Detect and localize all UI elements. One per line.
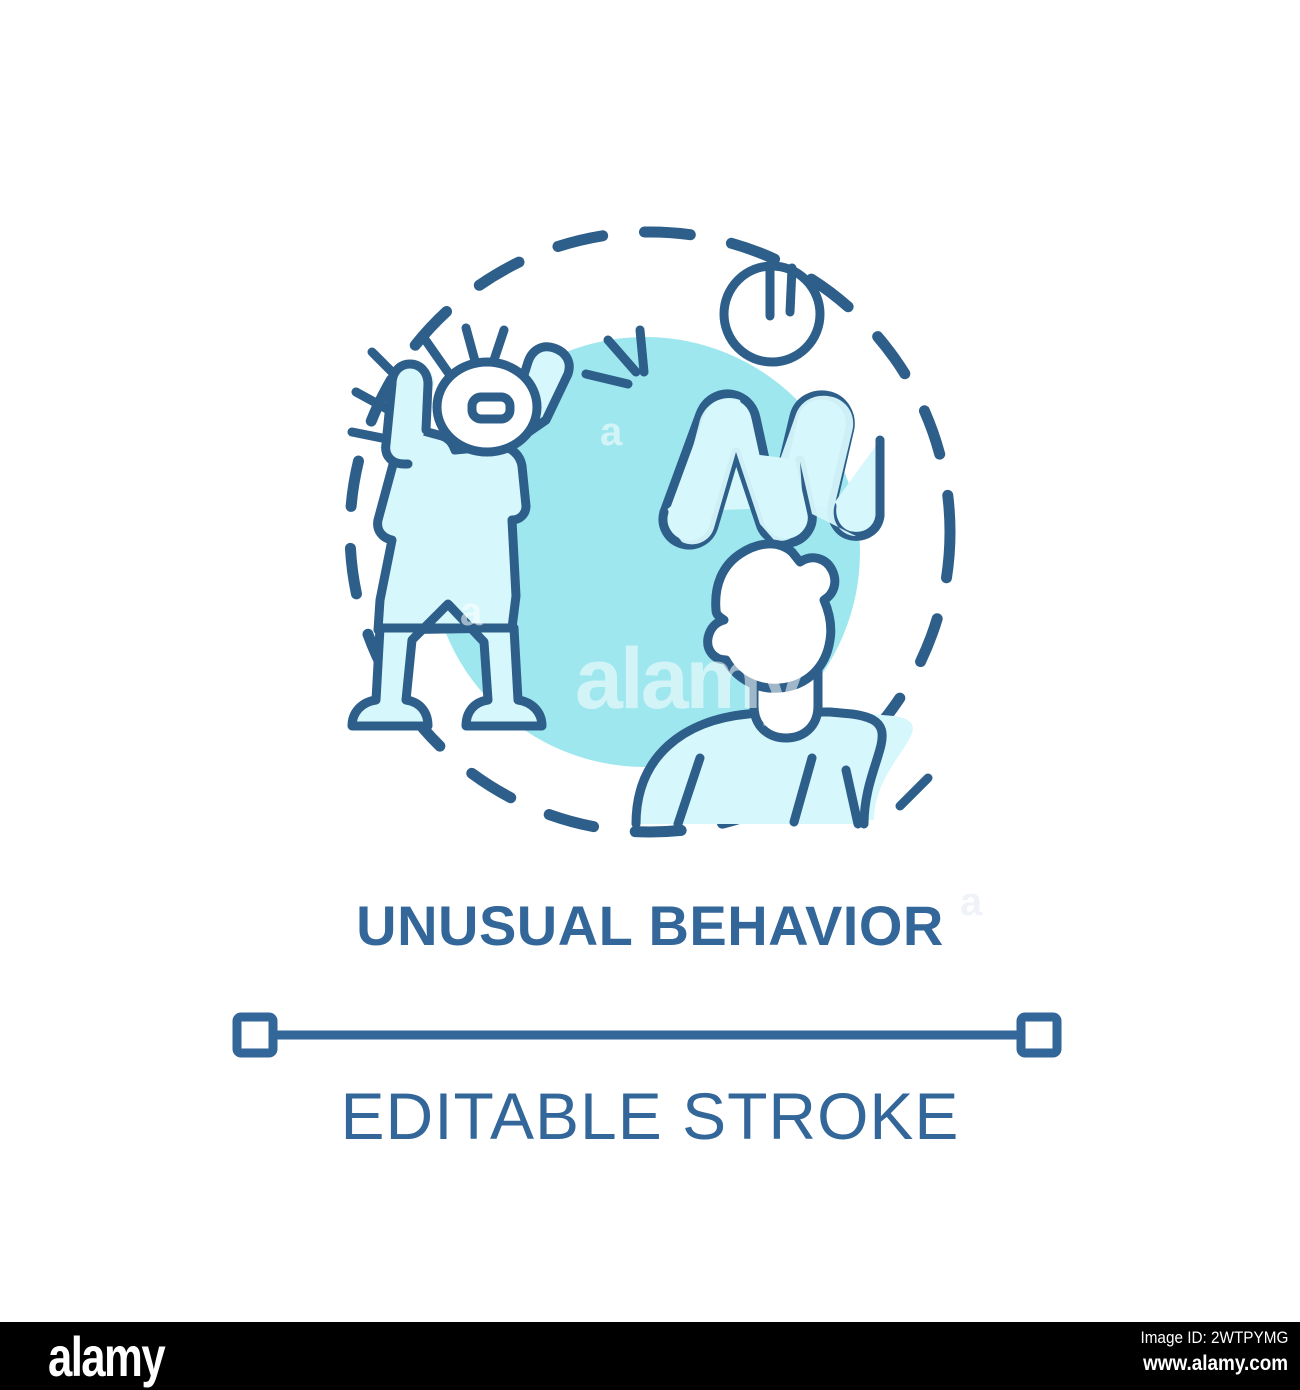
stroke-endpoint-left: [237, 1017, 273, 1053]
screenshot-canvas: a a a alamy a UNUSUAL BEHAVIOR EDITABLE …: [0, 0, 1300, 1390]
alamy-url-label: www.alamy.com: [1143, 1352, 1288, 1376]
editable-stroke-caption: EDITABLE STROKE: [0, 1078, 1300, 1154]
footer-bar: alamy Image ID: 2WTPYMG www.alamy.com: [0, 1322, 1300, 1390]
concept-title: UNUSUAL BEHAVIOR: [0, 893, 1300, 958]
right-emphasis-lines: [900, 778, 928, 806]
open-mouth: [472, 397, 510, 419]
unusual-behavior-illustration: [0, 0, 1300, 880]
image-id-label: Image ID: 2WTPYMG: [1140, 1328, 1288, 1348]
alamy-logo: alamy: [48, 1324, 164, 1389]
stroke-endpoint-right: [1021, 1017, 1057, 1053]
editable-stroke-indicator: [232, 1012, 1062, 1058]
